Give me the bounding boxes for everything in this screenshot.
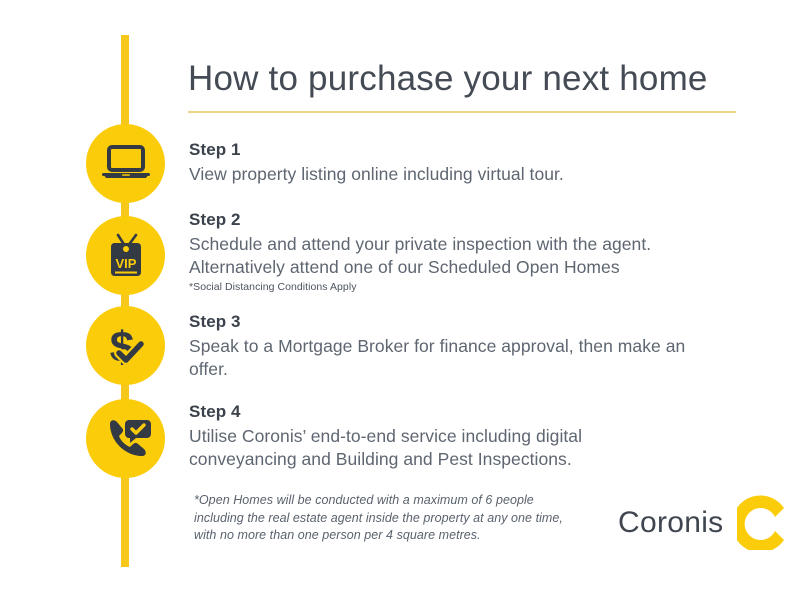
step-footnote: *Social Distancing Conditions Apply xyxy=(189,280,749,294)
laptop-icon xyxy=(101,144,151,184)
step-heading: Step 3 xyxy=(189,311,749,333)
coronis-logo: Coronis xyxy=(618,495,787,550)
step-heading: Step 4 xyxy=(189,401,749,423)
disclaimer-text: *Open Homes will be conducted with a max… xyxy=(194,492,624,545)
step-body: Utilise Coronis’ end-to-end service incl… xyxy=(189,425,749,471)
step-block-4: Step 4 Utilise Coronis’ end-to-end servi… xyxy=(189,401,749,471)
timeline-spine xyxy=(121,35,129,567)
step-marker-4 xyxy=(86,399,165,478)
step-marker-2: VIP xyxy=(86,216,165,295)
coronis-c-mark-icon xyxy=(737,495,787,550)
phone-check-icon xyxy=(101,415,151,463)
step-heading: Step 1 xyxy=(189,139,749,161)
logo-wordmark: Coronis xyxy=(618,506,723,540)
title-divider xyxy=(188,111,736,113)
step-heading: Step 2 xyxy=(189,209,749,231)
step-marker-1 xyxy=(86,124,165,203)
step-marker-3: $ xyxy=(86,306,165,385)
step-block-1: Step 1 View property listing online incl… xyxy=(189,139,749,186)
vip-tag-icon: VIP xyxy=(103,232,149,280)
svg-text:VIP: VIP xyxy=(115,256,136,271)
step-body: Schedule and attend your private inspect… xyxy=(189,233,749,279)
page-title: How to purchase your next home xyxy=(188,57,708,101)
step-block-3: Step 3 Speak to a Mortgage Broker for fi… xyxy=(189,311,749,381)
step-body: View property listing online including v… xyxy=(189,163,749,186)
step-block-2: Step 2 Schedule and attend your private … xyxy=(189,209,749,294)
infographic-canvas: VIP $ How to purchase your next home Ste… xyxy=(0,0,800,600)
step-body: Speak to a Mortgage Broker for finance a… xyxy=(189,335,749,381)
dollar-check-icon: $ xyxy=(102,322,150,370)
